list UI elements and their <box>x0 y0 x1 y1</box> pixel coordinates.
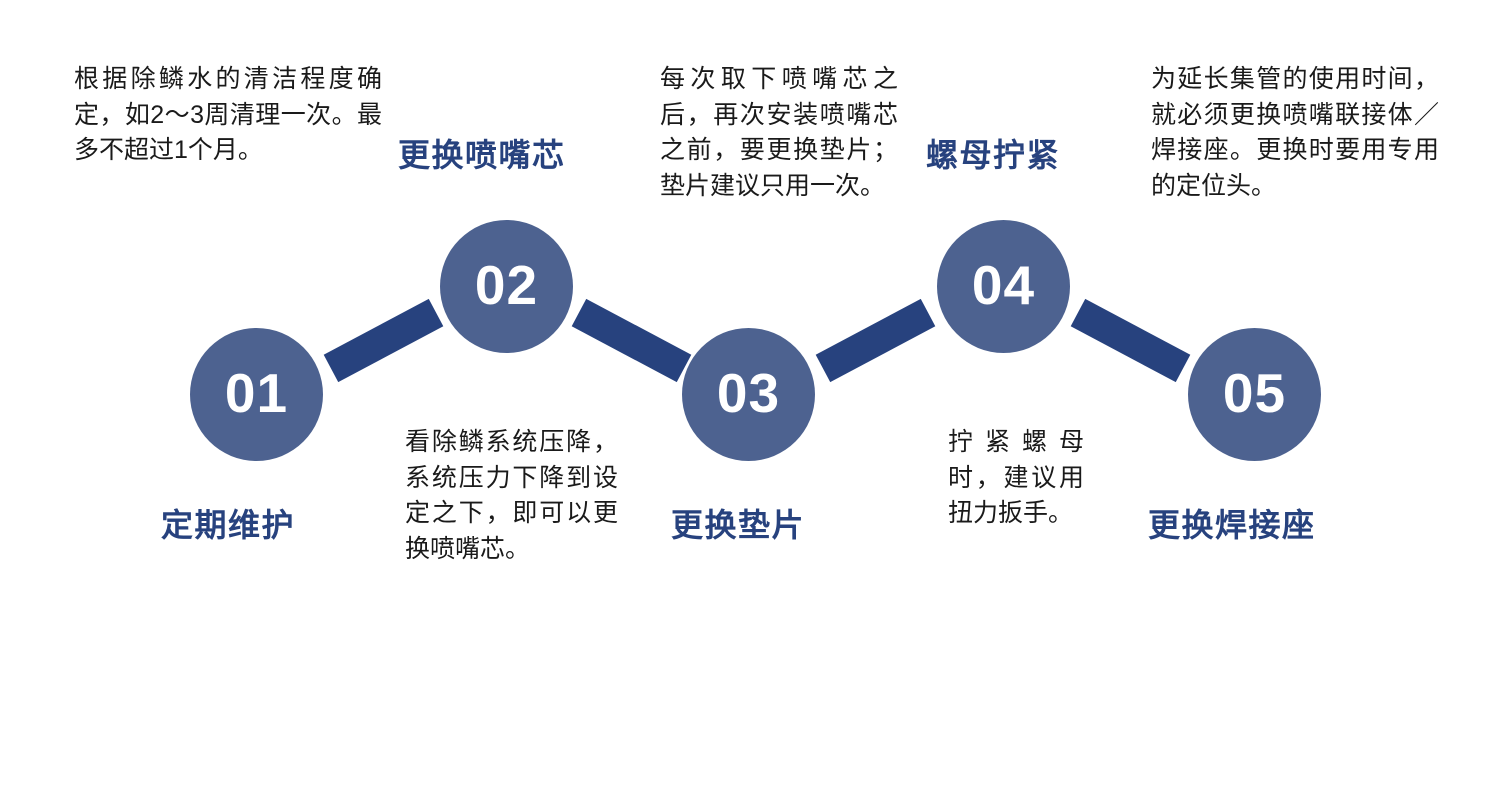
step-body-05: 为延长集管的使用时间，就必须更换喷嘴联接体／焊接座。更换时要用专用的定位头。 <box>1151 62 1439 204</box>
step-title-05: 更换焊接座 <box>1148 500 1316 546</box>
step-circle-03[interactable]: 03 <box>682 328 815 461</box>
step-body-04: 拧紧螺母时，建议用扭力扳手。 <box>948 425 1084 532</box>
step-circle-01[interactable]: 01 <box>190 328 323 461</box>
step-body-03: 每次取下喷嘴芯之后，再次安装喷嘴芯之前，要更换垫片；垫片建议只用一次。 <box>660 62 898 204</box>
step-title-02: 更换喷嘴芯 <box>398 130 566 176</box>
step-body-01: 根据除鳞水的清洁程度确定，如2～3周清理一次。最多不超过1个月。 <box>74 62 382 169</box>
step-number-04: 04 <box>972 258 1035 316</box>
connector-04-05 <box>1071 299 1191 382</box>
step-number-03: 03 <box>717 366 780 424</box>
connector-01-02 <box>324 299 444 382</box>
connector-03-04 <box>816 299 936 382</box>
step-circle-02[interactable]: 02 <box>440 220 573 353</box>
step-circle-04[interactable]: 04 <box>937 220 1070 353</box>
connector-02-03 <box>572 299 692 382</box>
step-number-05: 05 <box>1223 366 1286 424</box>
step-title-04: 螺母拧紧 <box>926 130 1060 176</box>
step-circle-05[interactable]: 05 <box>1188 328 1321 461</box>
step-number-01: 01 <box>225 366 288 424</box>
step-body-02: 看除鳞系统压降，系统压力下降到设定之下，即可以更换喷嘴芯。 <box>405 425 618 567</box>
step-title-01: 定期维护 <box>161 500 295 546</box>
step-number-02: 02 <box>475 258 538 316</box>
infographic-canvas: 根据除鳞水的清洁程度确定，如2～3周清理一次。最多不超过1个月。 01 定期维护… <box>0 0 1501 807</box>
step-title-03: 更换垫片 <box>671 500 805 546</box>
